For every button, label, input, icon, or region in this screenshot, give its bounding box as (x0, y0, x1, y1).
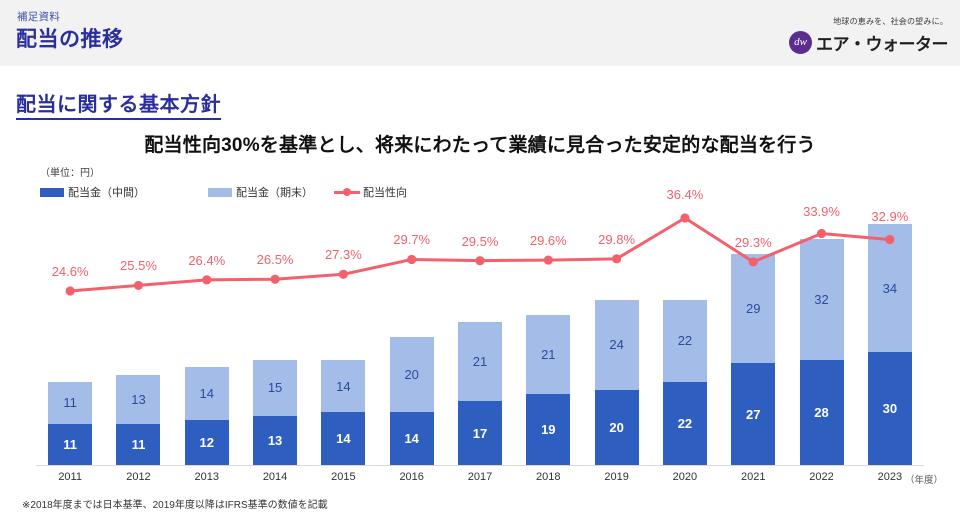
x-axis-tick-label: 2017 (450, 471, 510, 483)
payout-ratio-label: 29.8% (582, 232, 652, 247)
x-axis-tick-label: 2018 (518, 471, 578, 483)
logo-mark-text: dw (794, 37, 807, 48)
payout-ratio-label: 29.5% (445, 234, 515, 249)
bar-segment-interim: 14 (390, 412, 434, 465)
x-axis-tick-label: 2015 (313, 471, 373, 483)
bar-value-year-end: 29 (746, 301, 760, 316)
payout-ratio-line (70, 218, 890, 291)
bar-segment-year-end: 13 (116, 375, 160, 424)
chart-unit-label: （単位：円） (40, 164, 100, 179)
bar-segment-year-end: 14 (321, 360, 365, 413)
payout-ratio-point (270, 275, 279, 284)
bar-segment-year-end: 21 (526, 315, 570, 394)
payout-ratio-label: 26.4% (172, 253, 242, 268)
bar-segment-interim: 12 (185, 420, 229, 465)
logo-tagline: 地球の恵みを、社会の望みに。 (808, 16, 948, 27)
payout-ratio-point (475, 256, 484, 265)
policy-statement: 配当性向30%を基準とし、将来にわたって業績に見合った安定的な配当を行う (0, 130, 960, 157)
payout-ratio-point (817, 229, 826, 238)
bar-group: 2222 (663, 300, 707, 465)
payout-ratio-label: 27.3% (308, 247, 378, 262)
legend-swatch-icon (40, 188, 64, 197)
bar-value-interim: 28 (814, 405, 828, 420)
payout-ratio-label: 33.9% (787, 204, 857, 219)
x-axis-tick-label: 2021 (723, 471, 783, 483)
bar-segment-interim: 17 (458, 401, 502, 465)
bar-segment-interim: 20 (595, 390, 639, 465)
header-eyebrow: 補足資料 (17, 9, 60, 24)
company-logo: 地球の恵みを、社会の望みに。 dw エア・ウォーター (808, 16, 948, 55)
bar-value-interim: 22 (678, 416, 692, 431)
payout-ratio-point (134, 281, 143, 290)
bar-group: 2927 (731, 254, 775, 465)
legend-item: 配当金（中間） (40, 184, 208, 200)
dividend-chart: 1111131114121513141420142117211924202222… (0, 0, 960, 522)
payout-ratio-label: 32.9% (855, 209, 925, 224)
bar-group: 1412 (185, 367, 229, 465)
bar-segment-year-end: 20 (390, 337, 434, 412)
payout-ratio-point (66, 286, 75, 295)
bar-group: 1513 (253, 360, 297, 465)
bar-group: 1414 (321, 360, 365, 465)
bar-segment-year-end: 22 (663, 300, 707, 383)
axis-baseline (36, 465, 924, 466)
x-axis: 2011201220132014201520162017201820192020… (36, 468, 924, 488)
legend-label: 配当金（中間） (68, 184, 145, 200)
x-axis-unit-label: （年度） (905, 472, 943, 486)
chart-legend: 配当金（中間）配当金（期末）配当性向 (40, 184, 407, 200)
bar-value-year-end: 11 (63, 395, 77, 410)
payout-ratio-point (680, 213, 689, 222)
bar-segment-year-end: 29 (731, 254, 775, 363)
bar-value-interim: 19 (541, 422, 555, 437)
logo-mark-icon: dw (789, 31, 812, 54)
bar-segment-year-end: 32 (800, 239, 844, 359)
payout-ratio-label: 26.5% (240, 252, 310, 267)
bar-group: 2119 (526, 315, 570, 465)
bar-value-interim: 11 (63, 437, 77, 452)
bar-value-year-end: 21 (541, 347, 555, 362)
bar-segment-year-end: 15 (253, 360, 297, 416)
legend-label: 配当性向 (363, 184, 407, 200)
bar-value-year-end: 24 (609, 337, 623, 352)
bar-group: 1311 (116, 375, 160, 465)
chart-plot-area: 1111131114121513141420142117211924202222… (36, 200, 924, 466)
payout-ratio-label: 29.7% (377, 232, 447, 247)
bar-segment-year-end: 34 (868, 224, 912, 352)
x-axis-tick-label: 2016 (382, 471, 442, 483)
payout-ratio-point (885, 235, 894, 244)
bar-value-year-end: 32 (814, 292, 828, 307)
bar-value-interim: 12 (200, 435, 214, 450)
bar-value-interim: 20 (609, 420, 623, 435)
bar-group: 3228 (800, 239, 844, 465)
bar-value-year-end: 14 (336, 379, 350, 394)
bar-value-interim: 14 (336, 431, 350, 446)
bar-value-year-end: 15 (268, 380, 282, 395)
bar-segment-interim: 11 (116, 424, 160, 465)
bar-value-interim: 13 (268, 433, 282, 448)
logo-row: dw エア・ウォーター (808, 30, 948, 55)
bar-segment-interim: 27 (731, 363, 775, 465)
x-axis-tick-label: 2019 (587, 471, 647, 483)
bar-segment-year-end: 11 (48, 382, 92, 423)
bar-group: 3430 (868, 224, 912, 465)
legend-label: 配当金（期末） (236, 184, 313, 200)
page-title: 配当の推移 (16, 23, 124, 53)
x-axis-tick-label: 2014 (245, 471, 305, 483)
payout-ratio-point (407, 255, 416, 264)
x-axis-tick-label: 2023 (860, 471, 920, 483)
bar-segment-interim: 11 (48, 424, 92, 465)
bar-value-year-end: 22 (678, 333, 692, 348)
payout-ratio-line-layer (0, 0, 960, 522)
x-axis-tick-label: 2011 (40, 471, 100, 483)
payout-ratio-point (202, 275, 211, 284)
bar-segment-interim: 13 (253, 416, 297, 465)
x-axis-tick-label: 2013 (177, 471, 237, 483)
footnote: ※2018年度までは日本基準、2019年度以降はIFRS基準の数値を記載 (22, 496, 328, 511)
bar-value-interim: 30 (883, 401, 897, 416)
bar-segment-interim: 30 (868, 352, 912, 465)
bar-segment-interim: 14 (321, 412, 365, 465)
bar-group: 2117 (458, 322, 502, 465)
bar-group: 2420 (595, 300, 639, 465)
bar-value-year-end: 21 (473, 354, 487, 369)
x-axis-tick-label: 2022 (792, 471, 852, 483)
bar-group: 2014 (390, 337, 434, 465)
bar-segment-interim: 28 (800, 360, 844, 465)
bar-value-interim: 17 (473, 426, 487, 441)
bar-group: 1111 (48, 382, 92, 465)
payout-ratio-label: 24.6% (35, 264, 105, 279)
bar-value-year-end: 14 (200, 386, 214, 401)
payout-ratio-point (612, 254, 621, 263)
payout-ratio-label: 29.6% (513, 233, 583, 248)
bar-value-interim: 11 (132, 437, 146, 452)
bar-value-year-end: 34 (883, 281, 897, 296)
legend-swatch-icon (208, 188, 232, 197)
legend-item: 配当金（期末） (208, 184, 334, 200)
legend-line-marker-icon (334, 187, 360, 198)
bar-segment-interim: 19 (526, 394, 570, 465)
bar-value-interim: 14 (404, 431, 418, 446)
bar-segment-year-end: 24 (595, 300, 639, 390)
payout-ratio-label: 29.3% (718, 235, 788, 250)
payout-ratio-point (339, 270, 348, 279)
logo-company-name: エア・ウォーター (816, 30, 948, 55)
x-axis-tick-label: 2012 (108, 471, 168, 483)
x-axis-tick-label: 2020 (655, 471, 715, 483)
payout-ratio-label: 25.5% (103, 258, 173, 273)
payout-ratio-label: 36.4% (650, 187, 720, 202)
bar-value-interim: 27 (746, 407, 760, 422)
payout-ratio-point (544, 255, 553, 264)
section-heading: 配当に関する基本方針 (16, 88, 221, 120)
payout-ratio-point (749, 257, 758, 266)
bar-value-year-end: 13 (131, 392, 145, 407)
bar-segment-year-end: 14 (185, 367, 229, 420)
bar-segment-year-end: 21 (458, 322, 502, 401)
legend-item: 配当性向 (334, 184, 407, 200)
bar-value-year-end: 20 (404, 367, 418, 382)
bar-segment-interim: 22 (663, 382, 707, 465)
